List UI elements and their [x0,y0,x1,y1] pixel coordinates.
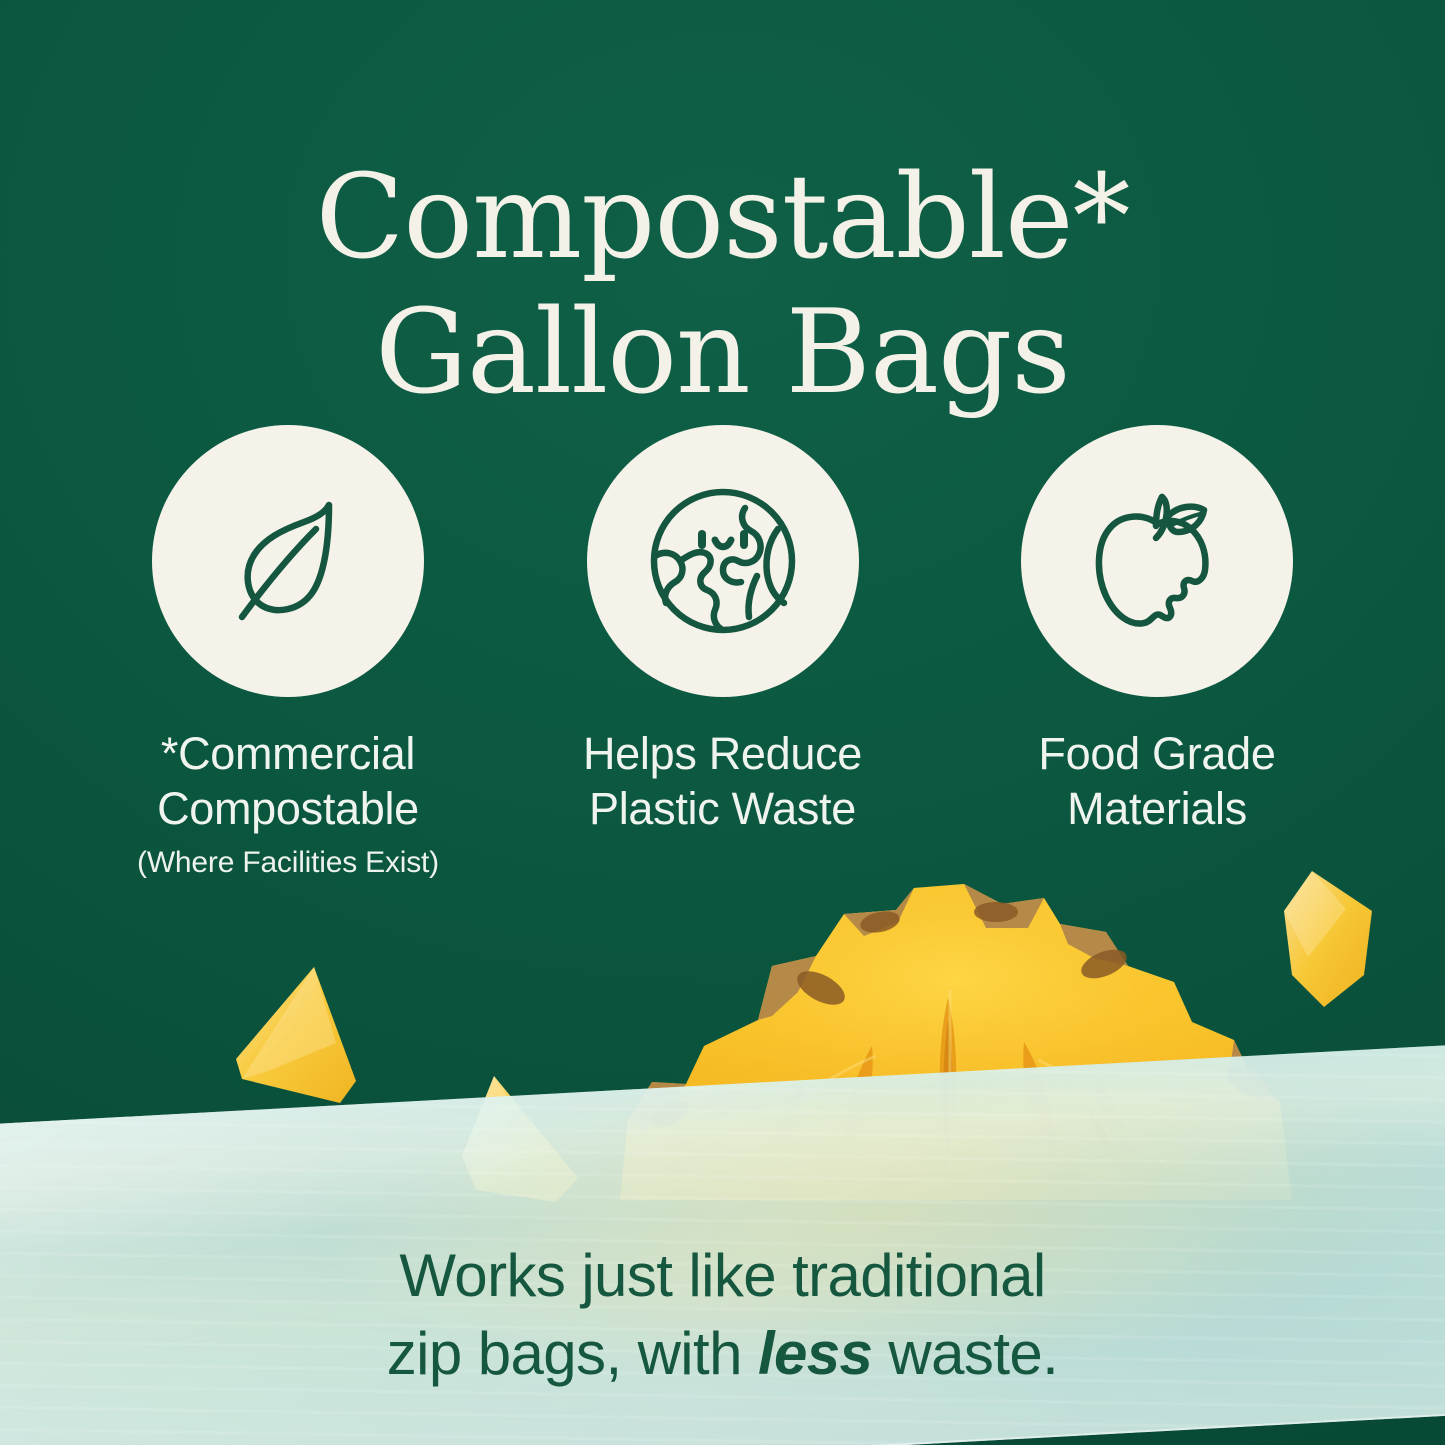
feature-caption-line-1: *Commercial [157,727,419,782]
leaf-icon [208,481,368,641]
bitten-apple-icon [1074,478,1240,644]
tagline-emphasis: less [758,1320,872,1387]
feature-icon-badge [1021,425,1293,697]
feature-commercial-compostable: *Commercial Compostable (Where Facilitie… [78,425,498,881]
feature-caption-line-1: Helps Reduce [583,727,862,782]
page-title-line-1: Compostable* [90,150,1355,286]
feature-icon-badge [587,425,859,697]
tagline-line-1: Works just like traditional [110,1237,1335,1315]
feature-caption-line-1: Food Grade [1038,727,1275,782]
feature-caption: Helps Reduce Plastic Waste [583,727,862,837]
tagline: Works just like traditional zip bags, wi… [0,1237,1445,1393]
feature-caption: Food Grade Materials [1038,727,1275,837]
page-title-line-2: Gallon Bags [90,285,1355,421]
feature-caption: *Commercial Compostable [157,727,419,837]
product-marketing-poster: Compostable* Gallon Bags *Commercial Com… [0,0,1445,1445]
feature-subcaption: (Where Facilities Exist) [137,845,439,881]
page-title: Compostable* Gallon Bags [0,150,1445,421]
feature-caption-line-2: Plastic Waste [583,782,862,837]
pineapple-chunk-right [1268,865,1396,1013]
feature-icon-badge [152,425,424,697]
feature-helps-reduce-plastic-waste: Helps Reduce Plastic Waste [513,425,933,845]
feature-caption-line-2: Compostable [157,782,419,837]
feature-food-grade-materials: Food Grade Materials [947,425,1367,845]
feature-caption-line-2: Materials [1038,782,1275,837]
tagline-line-2: zip bags, with less waste. [110,1315,1335,1393]
tagline-line-2-before: zip bags, with [387,1320,758,1387]
smiling-earth-icon [639,477,807,645]
tagline-line-2-after: waste. [872,1320,1058,1387]
feature-row: *Commercial Compostable (Where Facilitie… [60,425,1385,881]
